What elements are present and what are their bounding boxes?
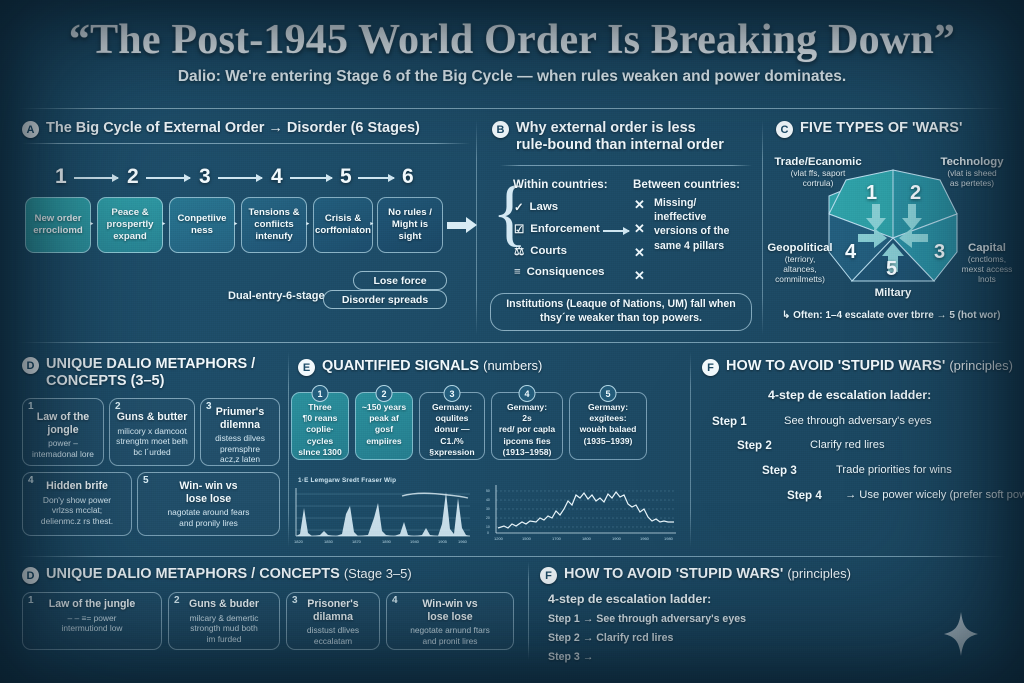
metaphor-card-2-sub: milicory x damcoot strengtm moet belh bc… [115,426,189,458]
section-b-badge: B [492,121,509,138]
divider-b-c [762,120,763,335]
metaphor2-card-4[interactable]: 4 Win-win vs lose lose negotate arnund f… [386,592,514,650]
svg-text:50: 50 [486,489,490,493]
svg-text:1890: 1890 [382,539,392,544]
section-d-title-line1: UNIQUE DALIO METAPHORS / [46,356,255,372]
metaphor2-card-3[interactable]: 3 Prisoner's dilamna disstust dlives ecc… [286,592,380,650]
stage-connector-4: ‣ [305,219,310,230]
pill-lose-force[interactable]: Lose force [353,271,447,290]
ladder2-row-3: Step 3 → [548,651,593,663]
page-title: “The Post-1945 World Order Is Breaking D… [0,16,1024,64]
section-c-badge: C [776,121,793,138]
metaphor2-card-3-title: Prisoner's dilamna [292,598,374,623]
svg-text:1800: 1800 [582,536,592,541]
divider-row1-row2 [18,342,1006,343]
section-b-title-line2: rule-bound than internal order [516,137,724,153]
section-d-badge: D [22,357,39,374]
cycle-continuation-arrow [447,222,467,229]
list-icon: ≡ [514,266,521,278]
scales-icon: ⚖ [514,244,524,258]
section-f2-title-main: HOW TO AVOID 'STUPID WARS' [564,566,783,582]
svg-text:1500: 1500 [522,536,532,541]
section-d-title-line2: CONCEPTS (3–5) [46,373,164,389]
war-type-technology-name: Technology [924,156,1020,168]
signal-card-2-text: ~150 years peak af gosf empiires [360,402,408,447]
pill-disorder-spreads[interactable]: Disorder spreads [323,290,447,309]
divider-d-e [288,352,289,547]
section-d2-badge: D [22,567,39,584]
svg-text:1850: 1850 [324,539,334,544]
chart-left-caption: 1·E Lemgarw Sredt Fraser Wip [298,477,396,484]
section-f2-title: HOW TO AVOID 'STUPID WARS' (principles) [564,566,851,583]
section-f2-badge: F [540,567,557,584]
pillar-enforcement-label: Enforcement [530,223,600,235]
ladder-step-1-label: Step 1 [712,415,747,428]
svg-text:1900: 1900 [612,536,622,541]
metaphor2-card-4-sub: negotate arnund ftars and pronit lires [392,625,508,646]
section-c-footnote: ↳ Often: 1–4 escalate over tbrre → 5 (ho… [782,310,1000,321]
metaphor-card-2[interactable]: 2 Guns & butter milicory x damcoot stren… [109,398,195,466]
ladder-step-4-label: Step 4 [787,489,822,502]
stage-connector-2: ‣ [161,219,166,230]
signal-card-4-text: Germany: 2s red/ por capla ipcoms fies (… [496,402,558,458]
metaphor-card-3[interactable]: 3 Priumer's dilemna distess dilves prems… [200,398,280,466]
war-type-military-name: Miltary [855,287,931,299]
metaphor-card-1-number: 1 [28,401,34,412]
ladder-step-2-label: Step 2 [737,439,772,452]
wedge-number-2: 2 [910,182,921,205]
section-b-underline [500,165,752,166]
pillar-consequences-label: Consiquences [527,266,605,278]
between-countries-text: Missing/ ineffective versions of the sam… [654,196,758,253]
war-type-technology: Technology (vlat is sheed as pertetes) [924,156,1020,188]
signal-card-5[interactable]: 5 Germany: exgitees: wouèh balaed (1935–… [569,392,647,460]
war-type-technology-sub: (vlat is sheed as pertetes) [924,168,1020,188]
svg-text:1200: 1200 [494,536,504,541]
metaphor2-card-3-number: 3 [292,595,298,606]
metaphor-card-3-title: Priumer's dilemna [206,406,274,431]
war-type-capital-name: Capital [950,242,1024,254]
svg-text:40: 40 [486,498,490,502]
war-type-capital-sub: (cnctloms, mexst access lnots [950,254,1024,284]
section-f2-title-note: (principles) [787,566,851,581]
stage-connector-5: ‣ [369,219,374,230]
svg-text:1820: 1820 [294,539,304,544]
signal-card-1-text: Three ¶0 reans coplie· cycles slnce 1300 [296,402,344,458]
section-e-badge: E [298,359,315,376]
section-a-underline [22,143,470,144]
signal-card-4-number: 4 [519,385,536,402]
section-e-title: QUANTIFIED SIGNALS (numbers) [322,358,542,375]
stage-box-2[interactable]: Peace & prospertly expand [97,197,163,253]
page-subtitle: Dalio: We're entering Stage 6 of the Big… [0,68,1024,86]
wedge-number-5: 5 [886,258,897,281]
section-d2-header: D UNIQUE DALIO METAPHORS / CONCEPTS (Sta… [22,566,502,584]
metaphor2-card-1-number: 1 [28,595,34,606]
metaphor-card-5[interactable]: 5 Win- win vs lose lose nagotate around … [137,472,280,536]
section-c-header: C FIVE TYPES OF 'WARS' [776,120,1016,138]
column-head-within: Within countries: [513,178,608,191]
metaphor-card-1-sub: power – intemadonal lore [28,438,98,459]
section-f-title: HOW TO AVOID 'STUPID WARS' (principles) [726,358,1013,375]
metaphor-card-1[interactable]: 1 Law of the jongle power – intemadonal … [22,398,104,466]
section-b-title-line1: Why external order is less [516,120,696,136]
pillar-courts-label: Courts [530,245,567,257]
signal-card-3-number: 3 [444,385,461,402]
svg-text:20: 20 [486,516,490,520]
section-e-header: E QUANTIFIED SIGNALS (numbers) [298,358,678,376]
metaphor2-card-1-sub: – – ≡= power intermutiond low [28,613,156,634]
metaphor-card-1-title: Law of the jongle [28,411,98,436]
svg-text:1870: 1870 [352,539,362,544]
metaphor-card-2-number: 2 [115,401,121,412]
x-mark-icon-2: ✕ [634,221,645,237]
section-a-header: A The Big Cycle of External Order → Diso… [22,120,472,138]
signal-card-2[interactable]: 2 ~150 years peak af gosf empiires [355,392,413,460]
svg-text:1905: 1905 [438,539,448,544]
signal-card-5-text: Germany: exgitees: wouèh balaed (1935–19… [574,402,642,447]
stage-box-5[interactable]: Crisis & corffoniaton [313,197,373,253]
war-type-trade-sub: (vlat ffs, saport cortrula) [770,168,866,188]
metaphor2-card-2-sub: milcary & demertic strongth mud both im … [174,613,274,645]
stage-number-1: 1 [55,165,67,189]
divider-a-b [476,120,477,335]
svg-text:1980: 1980 [664,536,674,541]
column-head-between: Between countries: [633,178,740,191]
section-a-caption: Dual-entry-6-stage [228,290,325,302]
pillar-enforcement: ☑ Enforcement [514,222,600,236]
war-type-trade-name: Trade/Ecanomic [770,156,866,168]
war-type-capital: Capital (cnctloms, mexst access lnots [950,242,1024,284]
between-countries-arrow [603,230,629,232]
x-mark-icon-3: ✕ [634,245,645,261]
signal-card-1-number: 1 [312,385,329,402]
metaphor2-card-1[interactable]: 1 Law of the jungle – – ≡= power intermu… [22,592,162,650]
war-type-geopolitical: Geopolitical (terriory, altances, commil… [762,242,838,284]
section-d2-title-note: (Stage 3–5) [344,566,412,581]
section-b-title: Why external order is less rule-bound th… [516,120,724,154]
metaphor-card-4-sub: Don'y show power vrlzss mcclat; delienmc… [28,495,126,527]
svg-text:10: 10 [486,525,490,529]
wedge-number-4: 4 [845,241,856,264]
section-f-header: F HOW TO AVOID 'STUPID WARS' (principles… [702,358,1022,376]
war-type-geopolitical-sub: (terriory, altances, commilmetts) [762,254,838,284]
section-f-title-main: HOW TO AVOID 'STUPID WARS' [726,358,945,374]
metaphor-card-4-number: 4 [28,475,34,486]
section-a-badge: A [22,121,39,138]
metaphor2-card-4-title: Win-win vs lose lose [392,598,508,623]
stage-number-2: 2 [127,165,139,189]
stage-box-4[interactable]: Tensions & confiicts intenufy [241,197,307,253]
section-b-note: Institutions (Leaque of Nations, UM) fal… [490,293,752,331]
sparkle-icon [944,612,978,656]
metaphor-card-5-number: 5 [143,475,149,486]
metaphor-card-5-sub: nagotate around fears and pronily lires [143,507,274,528]
stage-number-4: 4 [271,165,283,189]
svg-text:1960: 1960 [640,536,650,541]
section-a-title: The Big Cycle of External Order → Disord… [46,120,420,137]
divider-e-f [690,352,691,547]
ladder2-row-1: Step 1 → See through adversary's eyes [548,613,746,625]
ladder-step-3-label: Step 3 [762,464,797,477]
wedge-number-1: 1 [866,182,877,205]
metaphor-card-4[interactable]: 4 Hidden brife Don'y show power vrlzss m… [22,472,132,536]
section-d-title: UNIQUE DALIO METAPHORS / CONCEPTS (3–5) [46,356,255,390]
stage-connector-1: ‣ [89,219,94,230]
stage-number-3: 3 [199,165,211,189]
pillar-courts: ⚖ Courts [514,244,567,258]
x-mark-icon-1: ✕ [634,197,645,213]
section-e-title-main: QUANTIFIED SIGNALS [322,358,479,374]
metaphor-card-2-title: Guns & butter [115,411,189,424]
ladder-step-1-text: See through adversary's eyes [784,415,932,427]
stage-box-3[interactable]: Conpetiive ness [169,197,235,253]
divider-row2-row3 [18,556,1006,557]
ladder-step-4-text: → Use power wicely (prefer soft power) [845,489,1024,501]
metaphor-card-5-title: Win- win vs lose lose [143,480,274,505]
header-divider [18,108,1006,109]
stage-arrow-4 [290,177,332,179]
metaphor-card-3-sub: distess dilves premsphre acz,z laten [206,433,274,465]
svg-text:1940: 1940 [410,539,420,544]
stage-arrow-2 [146,177,190,179]
signal-card-4[interactable]: 4 Germany: 2s red/ por capla ipcoms fies… [491,392,563,460]
signal-card-3[interactable]: 3 Germany: oqulites donur —C1./% §xpress… [419,392,485,460]
section-f-badge: F [702,359,719,376]
metaphor2-card-4-number: 4 [392,595,398,606]
ladder2-title: 4-step de escalation ladder: [548,592,711,606]
stage-connector-3: ‣ [233,219,238,230]
metaphor2-card-3-sub: disstust dlives eccalatam [292,625,374,646]
svg-text:0: 0 [487,531,489,535]
checkbox-icon: ☑ [514,222,524,236]
signal-card-5-number: 5 [600,385,617,402]
svg-text:30: 30 [486,507,490,511]
svg-text:1700: 1700 [552,536,562,541]
war-type-military: Miltary [855,287,931,299]
section-e-title-note: (numbers) [483,358,542,373]
ladder-title: 4-step de escalation ladder: [768,388,931,402]
section-d2-title-main: UNIQUE DALIO METAPHORS / CONCEPTS [46,566,340,582]
war-type-geopolitical-name: Geopolitical [762,242,838,254]
stage-arrow-1 [74,177,118,179]
ladder-step-3-text: Trade priorities for wins [836,464,952,476]
pillar-laws: ✓ Laws [514,200,558,214]
section-d2-title: UNIQUE DALIO METAPHORS / CONCEPTS (Stage… [46,566,412,583]
section-b-header: B Why external order is less rule-bound … [492,120,752,154]
pillar-consequences: ≡ Consiquences [514,266,605,278]
check-icon: ✓ [514,200,524,214]
stage-box-1[interactable]: New order errocliomd [25,197,91,253]
signal-card-2-number: 2 [376,385,393,402]
metaphor-card-4-title: Hidden brife [28,480,126,493]
stage-number-5: 5 [340,165,352,189]
infographic-canvas: “The Post-1945 World Order Is Breaking D… [0,0,1024,683]
pillar-laws-label: Laws [530,201,559,213]
svg-text:1960: 1960 [458,539,468,544]
metaphor2-card-2-number: 2 [174,595,180,606]
chart-right-line: 120015001700 180019001960 1980 504030 20… [482,478,682,546]
ladder2-row-2: Step 2 → Clarify rcd lires [548,632,673,644]
metaphor2-card-2[interactable]: 2 Guns & buder milcary & demertic strong… [168,592,280,650]
war-type-trade: Trade/Ecanomic (vlat ffs, saport cortrul… [770,156,866,188]
wedge-number-3: 3 [934,241,945,264]
signal-card-1[interactable]: 1 Three ¶0 reans coplie· cycles slnce 13… [291,392,349,460]
divider-d2-f2 [528,562,529,660]
stage-number-6: 6 [402,165,414,189]
signal-card-3-text: Germany: oqulites donur —C1./% §xpressio… [424,402,480,458]
x-mark-icon-4: ✕ [634,268,645,284]
chart-left-area: 182018501870 189019401905 1960 [290,484,475,546]
metaphor2-card-2-title: Guns & buder [174,598,274,611]
section-d-header: D UNIQUE DALIO METAPHORS / CONCEPTS (3–5… [22,356,282,390]
ladder-step-2-text: Clarify red lires [810,439,885,451]
section-c-title: FIVE TYPES OF 'WARS' [800,120,962,137]
stage-arrow-3 [218,177,262,179]
metaphor2-card-1-title: Law of the jungle [28,598,156,611]
stage-box-6[interactable]: No rules / Might is sight [377,197,443,253]
metaphor-card-3-number: 3 [206,401,212,412]
section-f2-header: F HOW TO AVOID 'STUPID WARS' (principles… [540,566,940,584]
section-f-title-note: (principles) [949,358,1013,373]
stage-arrow-5 [358,177,394,179]
